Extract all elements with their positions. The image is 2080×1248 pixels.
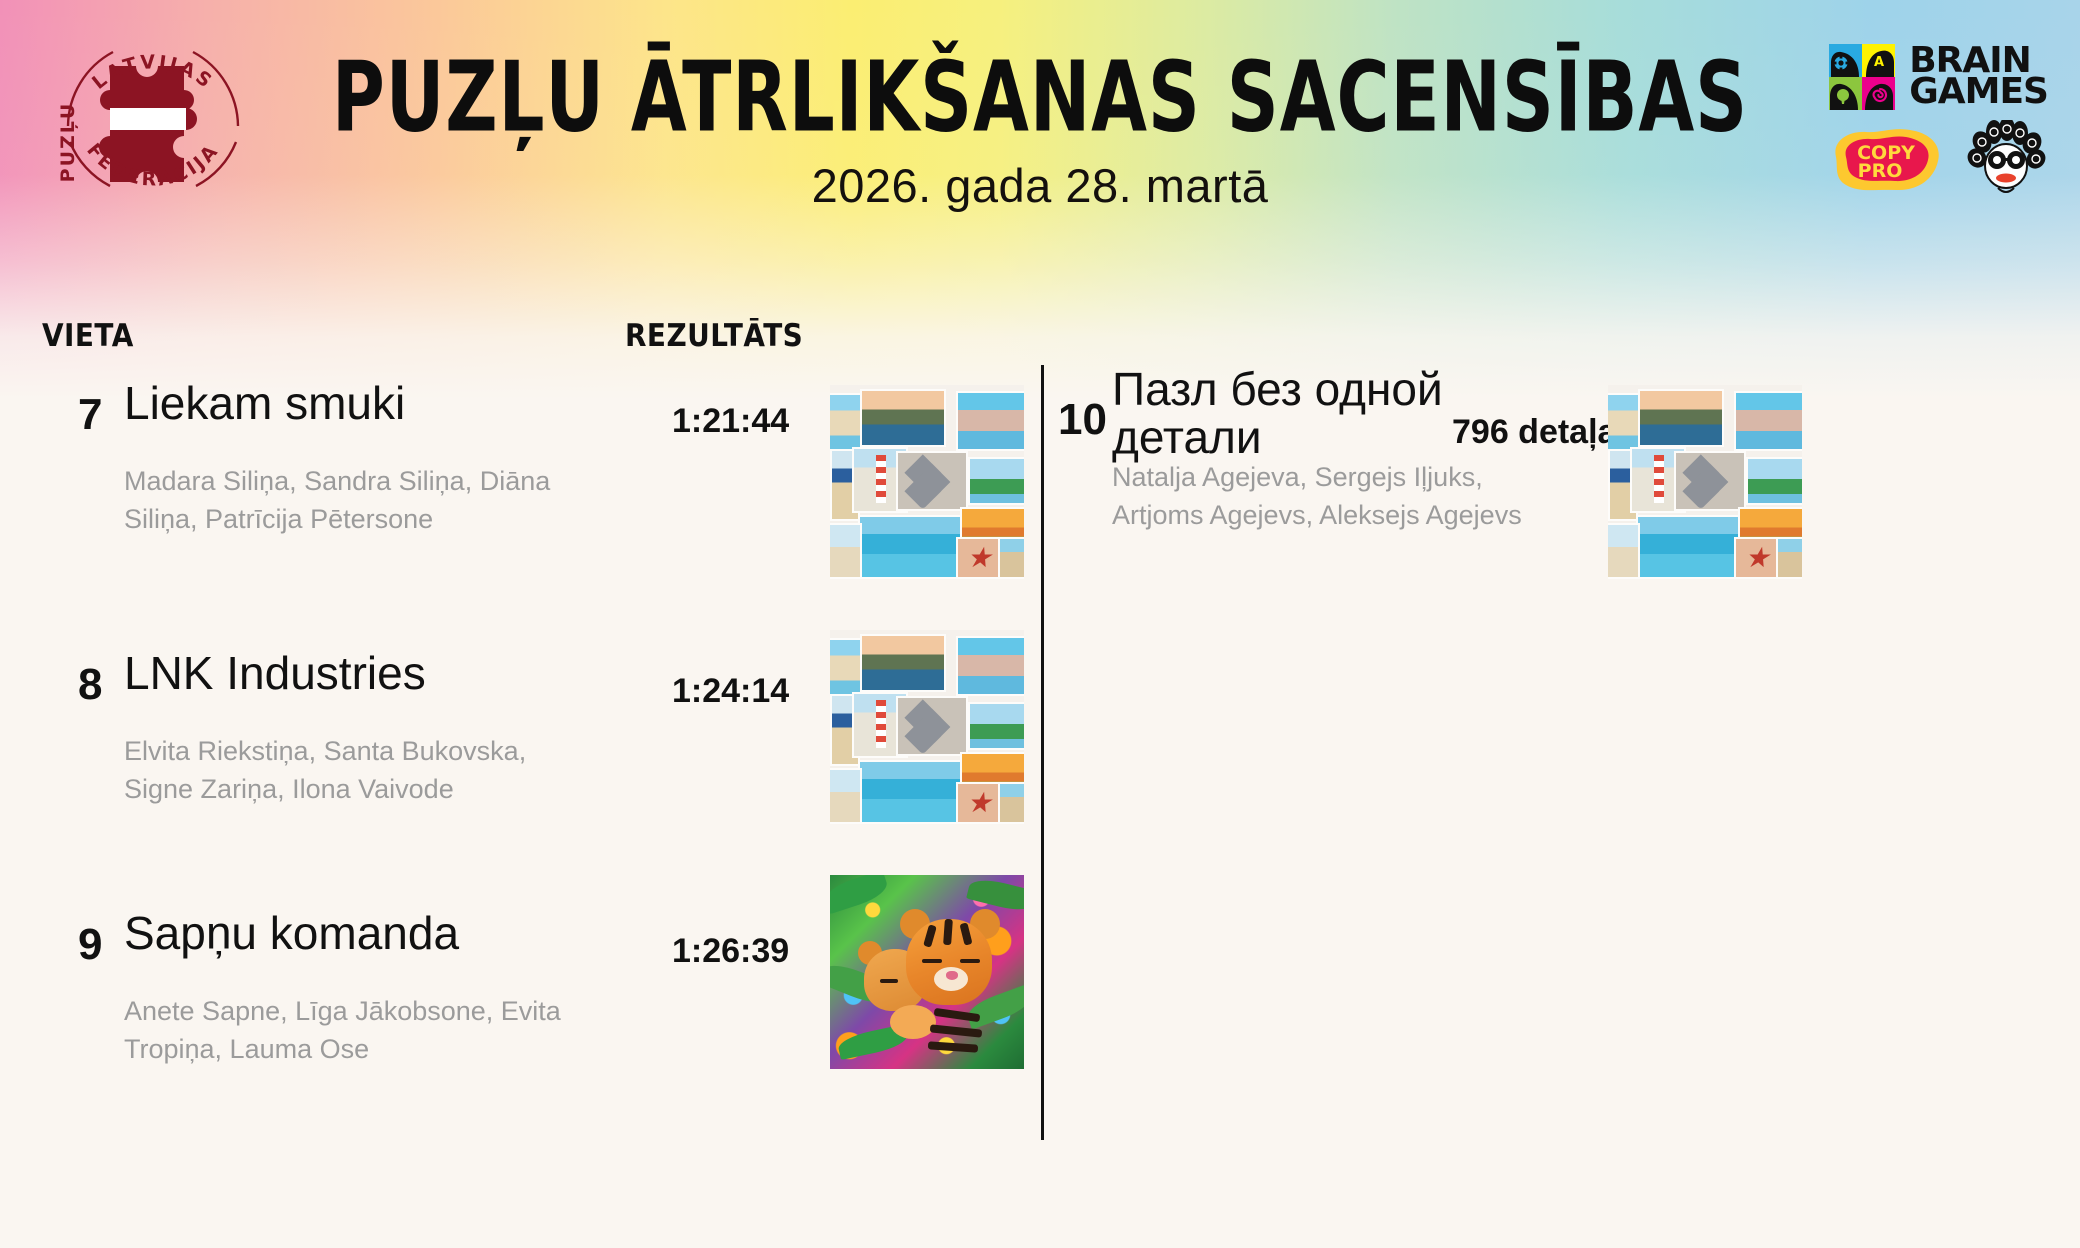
team-members: Madara Siliņa, Sandra Siliņa, Diāna Sili… — [124, 462, 584, 539]
latvian-puzzle-federation-logo: LATVIJAS FEDERĀCIJA PUZĻU — [38, 22, 268, 214]
puzzle-thumbnail-seaside-collage — [830, 385, 1024, 579]
column-header-result: REZULTĀTS — [625, 318, 803, 354]
brain-gear-head-icon — [1829, 44, 1862, 77]
brain-games-line2: GAMES — [1909, 77, 2048, 108]
result-time: 1:26:39 — [672, 932, 789, 971]
column-header-place: VIETA — [42, 318, 134, 354]
brain-games-logo: A BRAIN GAMES — [1829, 44, 2048, 110]
results-list-left: 7 Liekam smuki Madara Siliņa, Sandra Sil… — [0, 365, 1030, 1155]
team-members: Natalja Agejeva, Sergejs Iļjuks, Artjoms… — [1112, 458, 1542, 535]
puzzle-thumbnail-seaside-collage — [830, 630, 1024, 824]
puzzle-thumbnail-tiger-cubs — [830, 875, 1024, 1069]
rank-number: 7 — [78, 390, 102, 440]
table-row[interactable]: 9 Sapņu komanda Anete Sapne, Līga Jākobs… — [0, 895, 1030, 1125]
brain-games-wordmark: BRAIN GAMES — [1909, 46, 2048, 108]
brain-spiral-head-icon — [1862, 77, 1895, 110]
team-name: Liekam smuki — [124, 379, 405, 427]
secondary-sponsor-row: COPY PRO — [1826, 120, 2048, 198]
table-row[interactable]: 7 Liekam smuki Madara Siliņa, Sandra Sil… — [0, 365, 1030, 595]
sponsor-logos: A BRAIN GAMES — [1826, 44, 2048, 198]
rank-number: 10 — [1058, 395, 1107, 445]
team-name: Sapņu komanda — [124, 909, 459, 957]
result-time: 1:24:14 — [672, 672, 789, 711]
rank-number: 9 — [78, 920, 102, 970]
curly-face-mask-logo — [1964, 120, 2048, 198]
brain-bulb-head-icon — [1829, 77, 1862, 110]
rank-number: 8 — [78, 660, 102, 710]
table-row[interactable]: 10 Пазл без одной детали Natalja Agejeva… — [1050, 365, 2080, 595]
svg-text:A: A — [1874, 55, 1884, 70]
brain-letter-a-head-icon: A — [1862, 44, 1895, 77]
puzzle-thumbnail-seaside-collage — [1608, 385, 1802, 579]
logo-text-left: PUZĻU — [57, 102, 79, 183]
brain-games-icon-grid: A — [1829, 44, 1895, 110]
team-name: LNK Industries — [124, 649, 426, 697]
copy-pro-logo: COPY PRO — [1826, 123, 1946, 195]
table-row[interactable]: 8 LNK Industries Elvita Riekstiņa, Santa… — [0, 635, 1030, 865]
team-members: Elvita Riekstiņa, Santa Bukovska, Signe … — [124, 732, 584, 809]
result-time: 1:21:44 — [672, 402, 789, 441]
column-divider — [1041, 365, 1044, 1140]
copy-pro-line2: PRO — [1858, 160, 1903, 182]
team-members: Anete Sapne, Līga Jākobsone, Evita Tropi… — [124, 992, 584, 1069]
